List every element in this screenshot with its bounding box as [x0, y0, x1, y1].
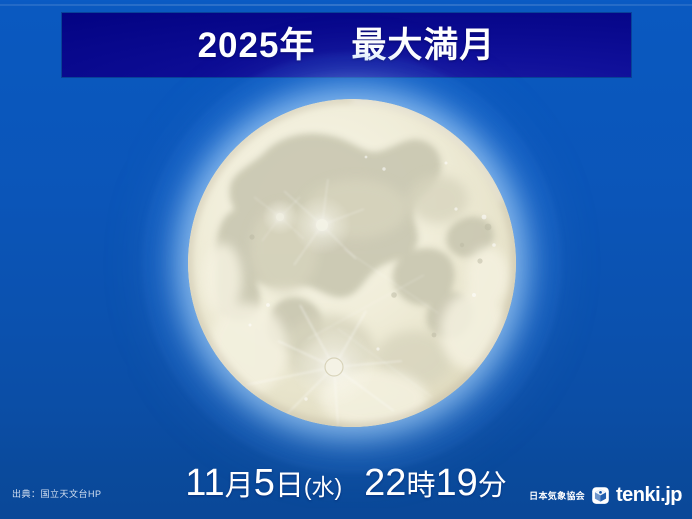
- date-day: 5: [254, 462, 275, 504]
- association-name: 日本気象協会: [529, 489, 585, 502]
- time-hour: 22: [364, 462, 406, 504]
- tenki-cube-icon: [591, 486, 610, 505]
- time-hour-unit: 時: [406, 470, 435, 502]
- time-minute: 19: [435, 462, 477, 504]
- date-weekday: (水): [304, 474, 342, 500]
- date-month: 11: [185, 462, 224, 504]
- date-day-unit: 日: [275, 470, 304, 502]
- date-month-unit: 月: [225, 470, 254, 502]
- full-moon-icon: [188, 99, 516, 427]
- moon-illustration: [142, 53, 562, 473]
- brand-name: tenki.jp: [616, 485, 682, 505]
- time-minute-unit: 分: [478, 470, 507, 502]
- top-hairline: [0, 4, 692, 6]
- brand-logo[interactable]: 日本気象協会 tenki.jp: [529, 485, 682, 505]
- moon-poster: 2025年 最大満月: [0, 0, 692, 519]
